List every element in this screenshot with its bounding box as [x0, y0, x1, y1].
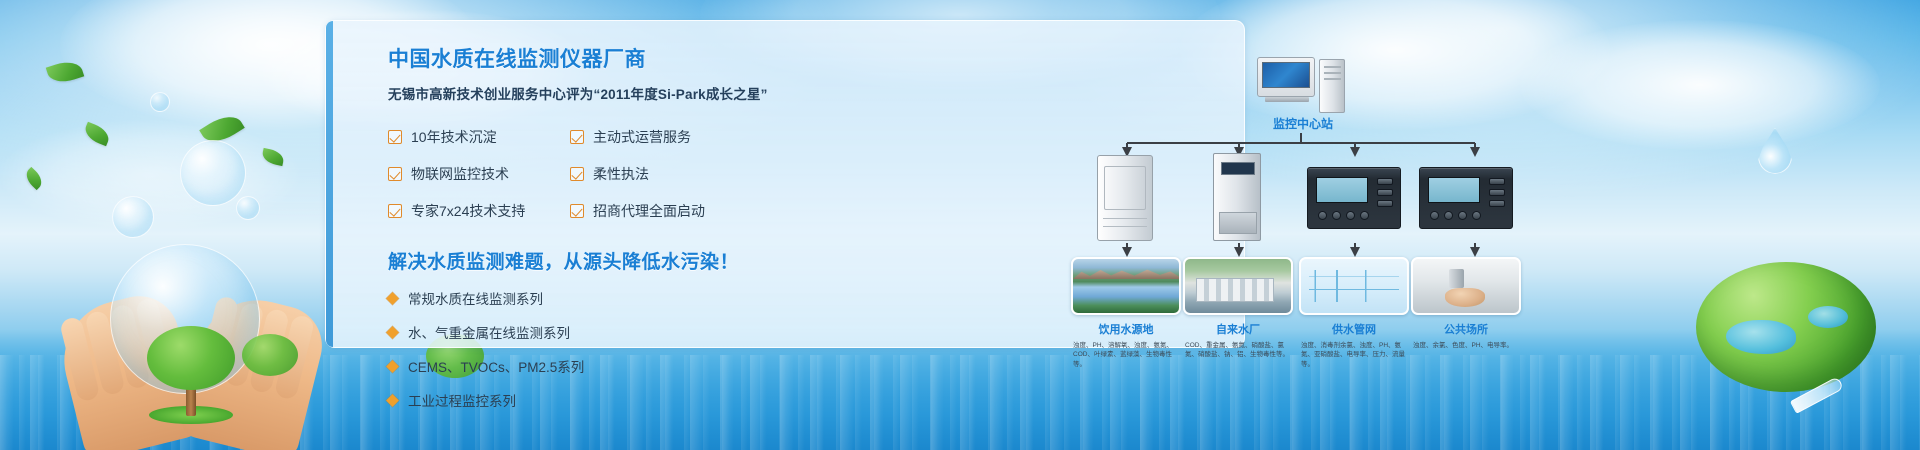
feature-checklist: 10年技术沉淀 主动式运营服务 物联网监控技术 柔性执法 专家7x24技术支持 …	[388, 127, 768, 221]
green-island-illustration	[1696, 262, 1876, 392]
analyzer-side-buttons	[1489, 178, 1505, 207]
pc-tower-icon	[1319, 59, 1345, 113]
scene-card: 供水管网 浊度、消毒剂余氯、浊度、PH、氨氮、亚硝酸盐、电导率、压力、流量等。	[1299, 257, 1409, 369]
analyzer-button	[1472, 211, 1481, 220]
content-panel: 中国水质在线监测仪器厂商 无锡市高新技术创业服务中心评为“2011年度Si-Pa…	[325, 20, 1245, 348]
analyzer-button	[1458, 211, 1467, 220]
monitor-icon	[1257, 57, 1315, 97]
checkbox-checked-icon	[570, 130, 584, 144]
list-item-label: 工业过程监控系列	[408, 390, 516, 410]
tower-slot	[1324, 78, 1341, 80]
panel-left-accent-bar	[326, 21, 333, 347]
cabinet-screen	[1221, 162, 1255, 175]
analyzer-body	[1307, 167, 1401, 229]
scene-card: 公共场所 浊度、余氯、色度、PH、电导率。	[1411, 257, 1521, 350]
analyzer-button	[1444, 211, 1453, 220]
bubble-shape	[236, 196, 260, 220]
scene-description: 浊度、消毒剂余氯、浊度、PH、氨氮、亚硝酸盐、电导率、压力、流量等。	[1299, 341, 1409, 369]
checkbox-checked-icon	[570, 204, 584, 218]
leaf-icon	[22, 167, 45, 190]
scene-photo-water-network	[1299, 257, 1409, 315]
tower-slot	[1324, 66, 1341, 68]
feature-item: 专家7x24技术支持	[388, 201, 560, 221]
feature-label: 专家7x24技术支持	[411, 201, 525, 221]
analyzer-button	[1489, 178, 1505, 185]
feature-item: 柔性执法	[570, 164, 742, 184]
list-item: 工业过程监控系列	[388, 390, 768, 410]
analyzer-button	[1377, 189, 1393, 196]
device-cabinet-gray	[1183, 151, 1293, 243]
feature-item: 招商代理全面启动	[570, 201, 742, 221]
list-item-label: CEMS、TVOCs、PM2.5系列	[408, 356, 584, 376]
scene-description: COD、重金属、氨氮、硝酸盐、氯氮、硝酸盐、钠、铝、生物毒性等。	[1183, 341, 1293, 360]
feature-label: 10年技术沉淀	[411, 127, 497, 147]
monitor-stand	[1265, 97, 1309, 102]
analyzer-button	[1489, 189, 1505, 196]
analyzer-button-row	[1430, 211, 1481, 220]
scene-title: 自来水厂	[1183, 321, 1293, 337]
scene-description: 浊度、PH、溶解氧、浊度、氨氮、COD、叶绿素、蓝绿藻、生物毒性等。	[1071, 341, 1181, 369]
analyzer-button	[1377, 200, 1393, 207]
checkbox-checked-icon	[388, 130, 402, 144]
application-scenes-row: 饮用水源地 浊度、PH、溶解氧、浊度、氨氮、COD、叶绿素、蓝绿藻、生物毒性等。…	[1061, 257, 1541, 369]
scene-title: 公共场所	[1411, 321, 1521, 337]
analyzer-button-row	[1318, 211, 1369, 220]
bubble-shape	[180, 140, 246, 206]
scene-photo-drinking-water-source	[1071, 257, 1181, 315]
cabinet-line	[1103, 218, 1147, 219]
list-item-label: 水、气重金属在线监测系列	[408, 322, 570, 342]
analyzer-button	[1318, 211, 1327, 220]
scene-photo-water-plant	[1183, 257, 1293, 315]
product-series-list: 常规水质在线监测系列 水、气重金属在线监测系列 CEMS、TVOCs、PM2.5…	[388, 288, 768, 410]
analyzer-button	[1377, 178, 1393, 185]
analyzer-lcd-screen	[1316, 177, 1368, 203]
page-title: 中国水质在线监测仪器厂商	[388, 43, 768, 73]
tree-crown	[242, 334, 298, 376]
analyzer-button	[1489, 200, 1505, 207]
tree-crown	[147, 326, 235, 390]
analyzer-body	[1419, 167, 1513, 229]
center-node-label: 监控中心站	[1239, 115, 1367, 132]
cabinet-door	[1104, 166, 1146, 210]
diamond-bullet-icon	[386, 360, 399, 373]
list-item: CEMS、TVOCs、PM2.5系列	[388, 356, 768, 376]
bubble-shape	[150, 92, 170, 112]
analyzer-button	[1360, 211, 1369, 220]
leaf-icon	[82, 122, 112, 147]
diamond-bullet-icon	[386, 394, 399, 407]
feature-label: 招商代理全面启动	[593, 201, 705, 221]
scene-card: 自来水厂 COD、重金属、氨氮、硝酸盐、氯氮、硝酸盐、钠、铝、生物毒性等。	[1183, 257, 1293, 360]
list-item: 常规水质在线监测系列	[388, 288, 768, 308]
device-cabinet-white	[1071, 151, 1181, 243]
list-item-label: 常规水质在线监测系列	[408, 288, 543, 308]
diamond-bullet-icon	[386, 326, 399, 339]
feature-item: 物联网监控技术	[388, 164, 560, 184]
scene-title: 供水管网	[1299, 321, 1409, 337]
device-analyzer-2	[1411, 151, 1521, 243]
list-item: 水、气重金属在线监测系列	[388, 322, 768, 342]
feature-item: 主动式运营服务	[570, 127, 742, 147]
feature-label: 柔性执法	[593, 164, 649, 184]
tower-slot	[1324, 72, 1341, 74]
leaf-icon	[46, 57, 85, 87]
analyzer-button	[1346, 211, 1355, 220]
panel-text-column: 中国水质在线监测仪器厂商 无锡市高新技术创业服务中心评为“2011年度Si-Pa…	[388, 43, 768, 424]
device-row	[1061, 151, 1541, 243]
island-lake	[1808, 306, 1848, 328]
leaf-icon	[261, 148, 285, 166]
scene-title: 饮用水源地	[1071, 321, 1181, 337]
checkbox-checked-icon	[388, 167, 402, 181]
checkbox-checked-icon	[388, 204, 402, 218]
page-subtitle: 无锡市高新技术创业服务中心评为“2011年度Si-Park成长之星”	[388, 83, 768, 103]
scene-photo-public-place	[1411, 257, 1521, 315]
checkbox-checked-icon	[570, 167, 584, 181]
analyzer-button	[1430, 211, 1439, 220]
feature-item: 10年技术沉淀	[388, 127, 560, 147]
bubble-shape	[112, 196, 154, 238]
monitor-screen	[1262, 62, 1310, 88]
feature-label: 主动式运营服务	[593, 127, 691, 147]
cabinet-line	[1103, 226, 1147, 227]
section-title: 解决水质监测难题，从源头降低水污染！	[388, 247, 768, 274]
water-droplet-icon	[1758, 128, 1792, 174]
cabinet-lower-panel	[1219, 212, 1257, 234]
scene-description: 浊度、余氯、色度、PH、电导率。	[1411, 341, 1521, 350]
cabinet-body	[1213, 153, 1261, 241]
feature-label: 物联网监控技术	[411, 164, 509, 184]
analyzer-lcd-screen	[1428, 177, 1480, 203]
diamond-bullet-icon	[386, 292, 399, 305]
monitoring-center-computer-icon	[1257, 57, 1349, 115]
analyzer-side-buttons	[1377, 178, 1393, 207]
analyzer-button	[1332, 211, 1341, 220]
scene-card: 饮用水源地 浊度、PH、溶解氧、浊度、氨氮、COD、叶绿素、蓝绿藻、生物毒性等。	[1071, 257, 1181, 369]
device-analyzer-1	[1299, 151, 1409, 243]
island-lake	[1726, 320, 1796, 354]
system-architecture-diagram: 监控中心站	[1061, 41, 1541, 369]
cabinet-body	[1097, 155, 1153, 241]
cloud-shape	[1520, 20, 1880, 150]
hands-holding-tree-illustration	[66, 250, 316, 450]
